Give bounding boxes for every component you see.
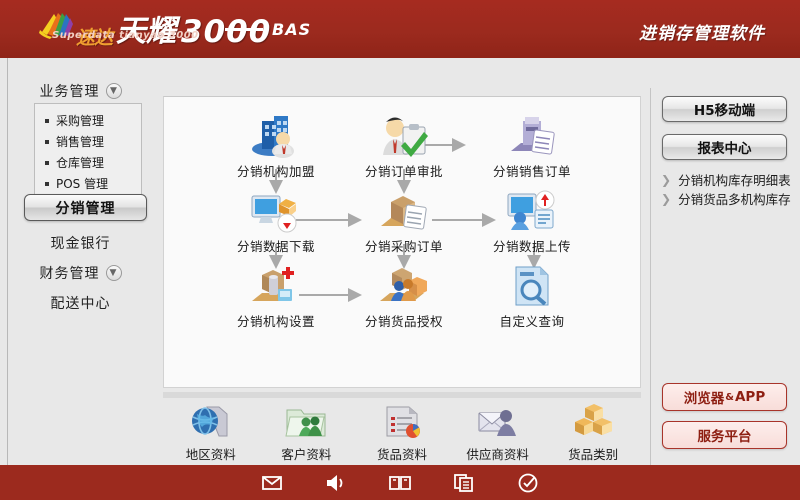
flow-node-label: 分销货品授权 xyxy=(344,311,464,330)
settings-plus-icon xyxy=(216,261,336,309)
sidebar-item-label: POS 管理 xyxy=(56,175,108,192)
tagline: 进销存管理软件 xyxy=(639,19,765,44)
sidebar-item-label: 仓库管理 xyxy=(56,154,104,171)
chevron-right-icon: ❯ xyxy=(661,173,671,187)
bottom-item-label: 货品类别 xyxy=(548,444,638,463)
sidebar-item-label: 采购管理 xyxy=(56,112,104,129)
folder-people-icon xyxy=(261,401,351,441)
body-area: 业务管理 ▼ 采购管理 销售管理 仓库管理 POS 管理 xyxy=(0,58,800,465)
book-icon[interactable] xyxy=(389,472,411,494)
monitor-download-icon xyxy=(216,186,336,234)
bullet-icon xyxy=(45,119,49,123)
flow-node-goods-authorization[interactable]: 分销货品授权 xyxy=(344,261,464,330)
sidebar-item-label: 现金银行 xyxy=(51,233,111,253)
bottom-item-label: 地区资料 xyxy=(166,444,256,463)
flow-node-order-approval[interactable]: 分销订单审批 xyxy=(344,111,464,180)
person-checklist-icon xyxy=(344,111,464,159)
link-branch-inventory-detail[interactable]: ❯ 分销机构库存明细表 xyxy=(661,170,791,189)
browser-app-amp: & xyxy=(725,392,734,403)
flow-node-label: 分销采购订单 xyxy=(344,236,464,255)
sidebar-item-delivery-center[interactable]: 配送中心 xyxy=(8,293,153,313)
right-divider xyxy=(650,88,651,465)
chart-document-icon xyxy=(357,401,447,441)
globe-document-icon xyxy=(166,401,256,441)
edition-label: BAS xyxy=(272,20,311,39)
flow-node-label: 分销机构加盟 xyxy=(216,161,336,180)
browser-app-button[interactable]: 浏览器 & APP xyxy=(662,383,787,411)
brand-divider-dash xyxy=(225,28,263,31)
flow-node-label: 分销数据上传 xyxy=(472,236,592,255)
h5-mobile-button[interactable]: H5移动端 xyxy=(662,96,787,122)
application-window: 速达天耀3000 Superdata tianyao 3000 BAS 进销存管… xyxy=(0,0,800,500)
bottom-item-label: 供应商资料 xyxy=(453,444,543,463)
service-platform-button[interactable]: 服务平台 xyxy=(662,421,787,449)
sidebar-item-distribution-active[interactable]: 分销管理 xyxy=(24,194,147,221)
sidebar-item-finance[interactable]: 财务管理 ▼ xyxy=(8,263,153,283)
sidebar-item-label: 销售管理 xyxy=(56,133,104,150)
bottom-item-label: 货品资料 xyxy=(357,444,447,463)
flow-node-custom-query[interactable]: 自定义查询 xyxy=(472,261,592,330)
envelope-person-icon xyxy=(453,401,543,441)
sidebar: 业务管理 ▼ 采购管理 销售管理 仓库管理 POS 管理 xyxy=(8,58,153,465)
link-label: 分销机构库存明细表 xyxy=(678,170,791,189)
flow-node-org-settings[interactable]: 分销机构设置 xyxy=(216,261,336,330)
magnifier-document-icon xyxy=(472,261,592,309)
sidebar-item-cash-bank[interactable]: 现金银行 xyxy=(8,233,153,253)
browser-app-main: 浏览器 xyxy=(684,387,725,407)
monitor-upload-icon xyxy=(472,186,592,234)
bottom-item-region-data[interactable]: 地区资料 xyxy=(166,401,256,463)
sidebar-item-sales[interactable]: 销售管理 xyxy=(35,131,141,152)
flow-node-label: 分销数据下载 xyxy=(216,236,336,255)
flow-node-label: 自定义查询 xyxy=(472,311,592,330)
flow-node-sales-order[interactable]: 分销销售订单 xyxy=(472,111,592,180)
strip-divider xyxy=(163,392,641,398)
clock-check-icon[interactable] xyxy=(517,472,539,494)
bottom-item-customer-data[interactable]: 客户资料 xyxy=(261,401,351,463)
flow-node-label: 分销订单审批 xyxy=(344,161,464,180)
chevron-down-icon[interactable]: ▼ xyxy=(106,83,122,99)
sidebar-item-label: 配送中心 xyxy=(51,293,111,313)
copy-icon[interactable] xyxy=(453,472,475,494)
right-panel: H5移动端 报表中心 ❯ 分销机构库存明细表 ❯ 分销货品多机构库存 浏览器 &… xyxy=(655,58,800,465)
chevron-down-icon[interactable]: ▼ xyxy=(106,265,122,281)
bullet-icon xyxy=(45,161,49,165)
sidebar-item-label: 财务管理 xyxy=(40,263,100,283)
flow-node-label: 分销机构设置 xyxy=(216,311,336,330)
boxes-people-icon xyxy=(344,261,464,309)
link-multi-branch-inventory[interactable]: ❯ 分销货品多机构库存 xyxy=(661,189,791,208)
sidebar-item-warehouse[interactable]: 仓库管理 xyxy=(35,152,141,173)
mail-icon[interactable] xyxy=(261,472,283,494)
bullet-icon xyxy=(45,140,49,144)
main-flow-panel: 分销机构加盟 分销订单审批 xyxy=(163,96,641,388)
sidebar-submenu: 采购管理 销售管理 仓库管理 POS 管理 xyxy=(34,103,142,201)
flow-node-purchase-order[interactable]: 分销采购订单 xyxy=(344,186,464,255)
sidebar-item-purchase[interactable]: 采购管理 xyxy=(35,110,141,131)
brand-subtitle: Superdata tianyao 3000 xyxy=(52,30,199,41)
bottom-item-goods-category[interactable]: 货品类别 xyxy=(548,401,638,463)
building-person-icon xyxy=(216,111,336,159)
sidebar-group-business[interactable]: 业务管理 ▼ xyxy=(8,81,153,101)
report-center-button[interactable]: 报表中心 xyxy=(662,134,787,160)
brand-cn-big: 天耀 xyxy=(116,6,176,50)
flow-node-data-download[interactable]: 分销数据下载 xyxy=(216,186,336,255)
boxes-icon xyxy=(548,401,638,441)
bullet-icon xyxy=(45,182,49,186)
browser-app-tail: APP xyxy=(735,389,765,405)
app-header: 速达天耀3000 Superdata tianyao 3000 BAS 进销存管… xyxy=(0,0,800,58)
link-label: 分销货品多机构库存 xyxy=(678,189,791,208)
bottom-icon-strip: 地区资料 客户资料 xyxy=(163,401,641,463)
speaker-icon[interactable] xyxy=(325,472,347,494)
bottom-item-supplier-data[interactable]: 供应商资料 xyxy=(453,401,543,463)
sidebar-item-pos[interactable]: POS 管理 xyxy=(35,173,141,194)
bottom-item-goods-data[interactable]: 货品资料 xyxy=(357,401,447,463)
flow-node-franchise[interactable]: 分销机构加盟 xyxy=(216,111,336,180)
sidebar-group-label: 业务管理 xyxy=(40,81,100,101)
flow-node-label: 分销销售订单 xyxy=(472,161,592,180)
box-document-icon xyxy=(344,186,464,234)
flow-node-data-upload[interactable]: 分销数据上传 xyxy=(472,186,592,255)
printer-document-icon xyxy=(472,111,592,159)
chevron-right-icon: ❯ xyxy=(661,192,671,206)
footer-toolbar xyxy=(0,465,800,500)
bottom-item-label: 客户资料 xyxy=(261,444,351,463)
